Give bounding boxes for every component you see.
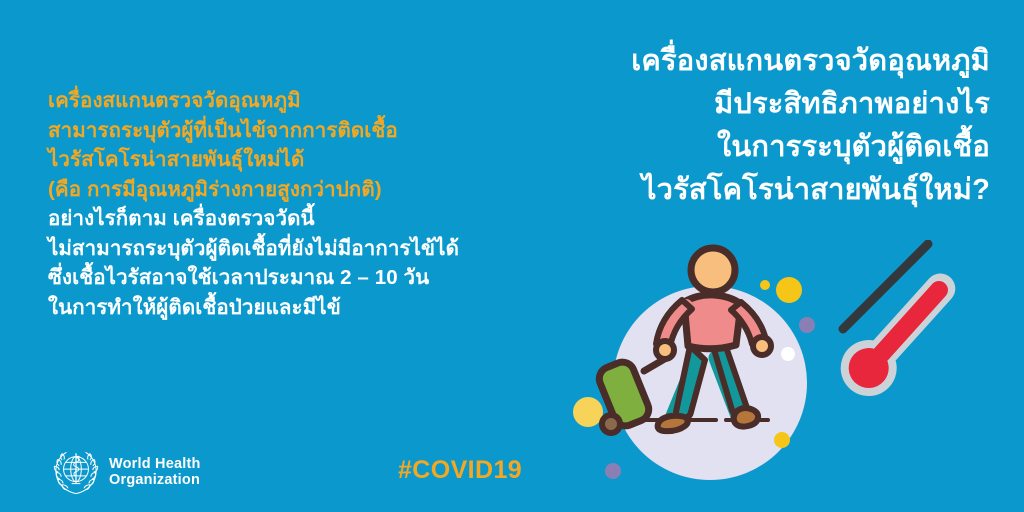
dot-yellow-large-top [776, 277, 802, 303]
dot-yellow-bottom-right [774, 432, 790, 448]
headline-line-1: เครื่องสแกนตรวจวัดอุณหภูมิ [520, 40, 990, 83]
torso-shirt [684, 295, 741, 349]
headline-line-4: ไวรัสโคโรน่าสายพันธุ์ใหม่? [520, 169, 990, 212]
body-plain-line-2: ไม่สามารถระบุตัวผู้ติดเชื้อที่ยังไม่มีอา… [48, 234, 518, 264]
dot-white [781, 347, 795, 361]
who-wordmark: World Health Organization [109, 456, 201, 489]
body-plain-line-3: ซึ่งเชื้อไวรัสอาจใช้เวลาประมาณ 2 – 10 วั… [48, 263, 518, 293]
dot-yellow-left [573, 397, 603, 427]
who-logo: World Health Organization [52, 448, 201, 496]
thermometer-icon [829, 244, 971, 408]
body-plain-line-1: อย่างไรก็ตาม เครื่องตรวจวัดนี้ [48, 204, 518, 234]
illustration-scene [570, 240, 1024, 512]
who-wordmark-line-1: World Health [109, 456, 201, 472]
who-wordmark-line-2: Organization [109, 472, 200, 488]
dot-purple-top [799, 317, 815, 333]
body-plain-line-4: ในการทำให้ผู้ติดเชื้อป่วยและมีไข้ [48, 293, 518, 323]
who-emblem-icon [52, 448, 100, 496]
body-accent-line-2: สามารถระบุตัวผู้ที่เป็นไข้จากการติดเชื้อ [48, 116, 518, 146]
body-accent-line-4: (คือ การมีอุณหภูมิร่างกายสูงกว่าปกติ) [48, 175, 518, 205]
body-accent-line-3: ไวรัสโคโรน่าสายพันธุ์ใหม่ได้ [48, 145, 518, 175]
body-copy-block: เครื่องสแกนตรวจวัดอุณหภูมิ สามารถระบุตัว… [48, 86, 518, 322]
dot-yellow-small-top [760, 280, 770, 290]
headline-line-3: ในการระบุตัวผู้ติดเชื้อ [520, 126, 990, 169]
headline-line-2: มีประสิทธิภาพอย่างไร [520, 83, 990, 126]
body-accent-line-1: เครื่องสแกนตรวจวัดอุณหภูมิ [48, 86, 518, 116]
head [691, 248, 735, 292]
hashtag-covid19: #COVID19 [398, 456, 522, 485]
poster-canvas: เครื่องสแกนตรวจวัดอุณหภูมิ สามารถระบุตัว… [0, 0, 1024, 512]
dot-purple-bottom [605, 463, 621, 479]
headline-block: เครื่องสแกนตรวจวัดอุณหภูมิ มีประสิทธิภาพ… [520, 40, 990, 212]
